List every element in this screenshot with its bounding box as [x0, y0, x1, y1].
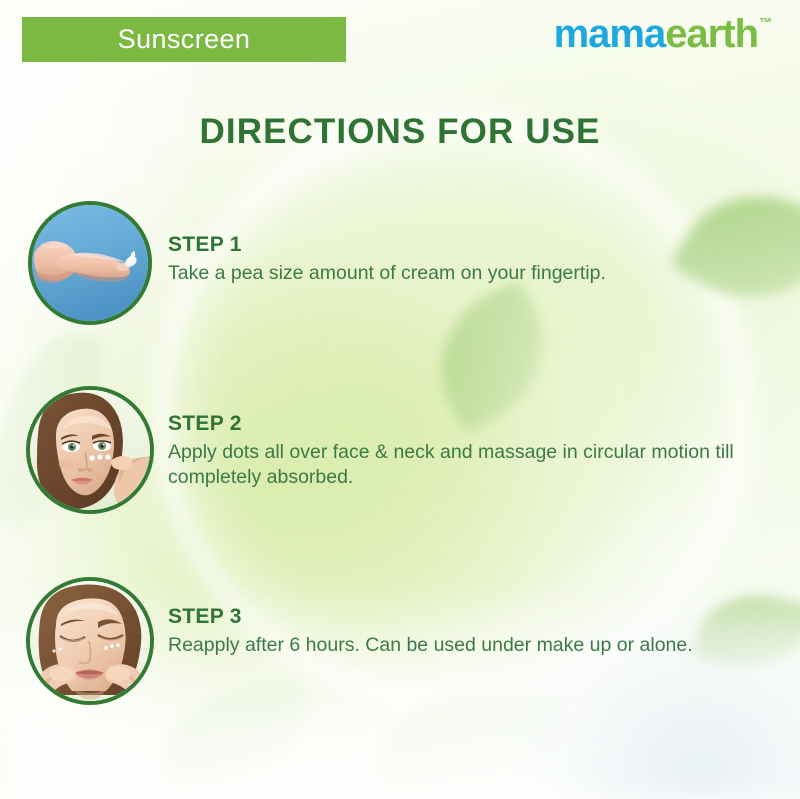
product-category-badge: Sunscreen [22, 17, 346, 62]
step-3-label: STEP 3 [168, 605, 768, 629]
step-1-label: STEP 1 [168, 233, 793, 257]
step-1-text: STEP 1 Take a pea size amount of cream o… [168, 233, 793, 286]
step-2-label: STEP 2 [168, 412, 800, 436]
step-3-description: Reapply after 6 hours. Can be used under… [168, 633, 768, 658]
step-2-description: Apply dots all over face & neck and mass… [168, 440, 800, 489]
mamaearth-logo: mama earth ™ [554, 14, 772, 54]
step-3-text: STEP 3 Reapply after 6 hours. Can be use… [168, 605, 768, 658]
logo-text-mama: mama [554, 14, 666, 54]
directions-for-use-poster: Sunscreen mama earth ™ DIRECTIONS FOR US… [0, 0, 800, 799]
step-2-thumbnail [26, 386, 154, 514]
trademark-icon: ™ [759, 16, 772, 29]
woman-massaging-face-photo [30, 581, 150, 701]
woman-applying-cream-dots-photo [30, 390, 150, 510]
finger-with-cream-dab-photo [32, 205, 148, 321]
step-2-text: STEP 2 Apply dots all over face & neck a… [168, 412, 800, 489]
logo-text-earth: earth [665, 14, 758, 54]
product-category-label: Sunscreen [118, 26, 251, 53]
page-title: DIRECTIONS FOR USE [0, 112, 800, 152]
step-1-thumbnail [28, 201, 152, 325]
step-3-thumbnail [26, 577, 154, 705]
step-1-description: Take a pea size amount of cream on your … [168, 261, 793, 286]
